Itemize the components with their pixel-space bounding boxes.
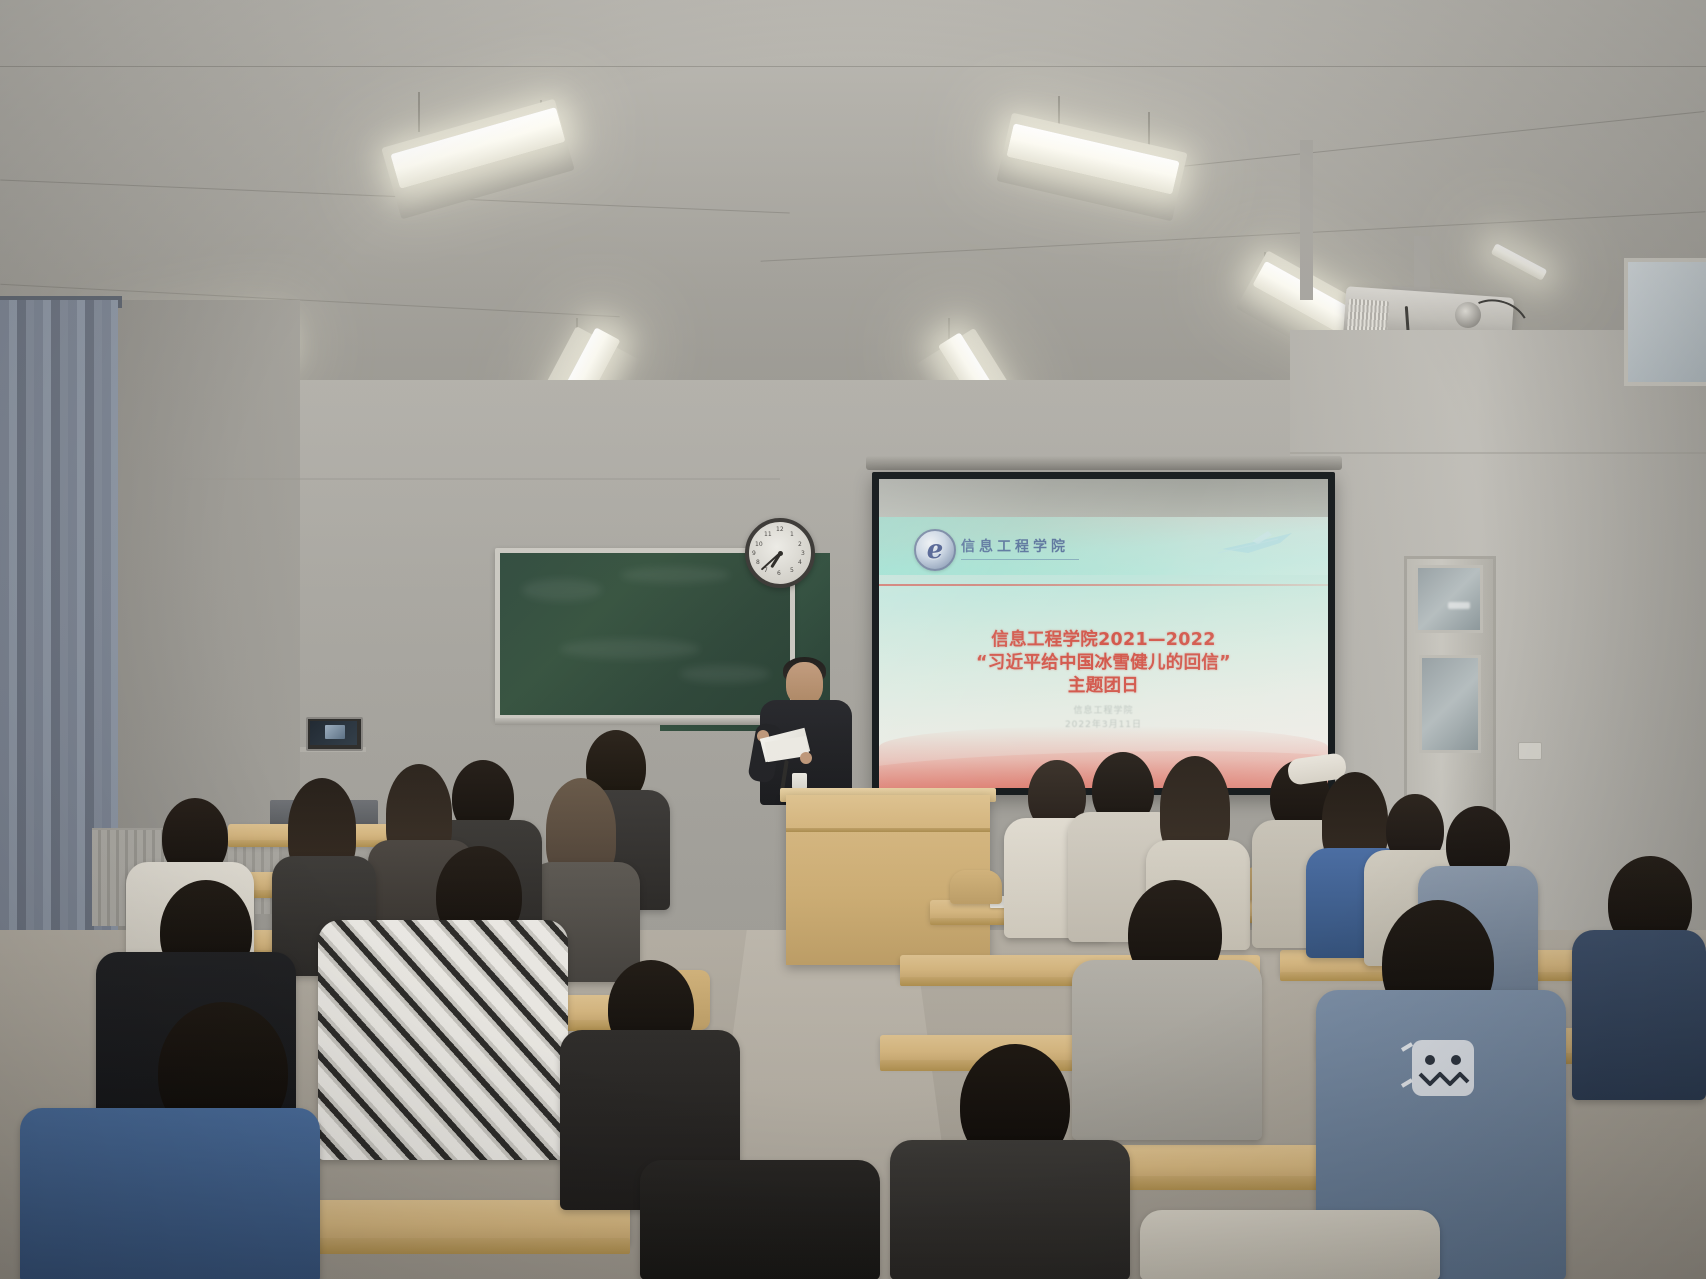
student-torso xyxy=(640,1160,880,1279)
ceiling-seam xyxy=(0,66,1706,67)
upper-window xyxy=(1624,258,1706,386)
wall-socket xyxy=(1518,742,1542,760)
clock-numeral: 6 xyxy=(777,570,781,577)
podium-front-lip xyxy=(786,828,990,832)
clock-numeral: 9 xyxy=(752,550,756,557)
clock-numeral: 3 xyxy=(801,550,805,557)
clock-numeral: 8 xyxy=(756,559,760,566)
clock-numeral: 12 xyxy=(776,526,784,533)
door-window-glass xyxy=(1419,655,1481,753)
projector-ceiling-pipe xyxy=(1300,140,1313,300)
chair xyxy=(950,870,1002,904)
wall-trim xyxy=(180,478,780,480)
wall-clock: 12 1 2 3 4 5 6 7 8 9 10 11 xyxy=(745,518,815,588)
projector-vent xyxy=(1347,299,1389,334)
chalkboard xyxy=(500,553,790,715)
lamp-rod xyxy=(418,92,420,132)
projection-screen-roller xyxy=(866,456,1342,470)
clock-numeral: 1 xyxy=(790,531,794,538)
hoodie-print-graphic xyxy=(1400,1030,1490,1110)
student-torso xyxy=(1572,930,1706,1100)
door-transom-glass xyxy=(1415,565,1483,633)
control-panel-thumbnail xyxy=(325,725,345,739)
clock-numeral: 11 xyxy=(764,531,772,538)
student-torso xyxy=(890,1140,1130,1279)
clock-numeral: 2 xyxy=(798,541,802,548)
classroom-photo: e 信息工程学院 信息工程学院2021—2022 “习近平给中国冰雪健儿的回信”… xyxy=(0,0,1706,1279)
projection-screen: e 信息工程学院 信息工程学院2021—2022 “习近平给中国冰雪健儿的回信”… xyxy=(879,479,1328,788)
student-torso xyxy=(1072,960,1262,1140)
chalk-tray xyxy=(495,718,795,725)
wall-trim xyxy=(1290,452,1706,454)
presenter-head xyxy=(786,662,823,705)
desk-edge xyxy=(300,1238,630,1254)
clock-center-pin xyxy=(778,551,783,556)
student-torso xyxy=(1140,1210,1440,1279)
clock-numeral: 4 xyxy=(798,559,802,566)
clock-numeral: 10 xyxy=(755,541,763,548)
wall-control-panel[interactable] xyxy=(306,717,363,751)
clock-numeral: 5 xyxy=(790,567,794,574)
presenter-hand xyxy=(800,752,812,764)
screen-glare xyxy=(879,479,1328,788)
student-torso xyxy=(20,1108,320,1279)
student-torso-plaid xyxy=(318,920,568,1160)
